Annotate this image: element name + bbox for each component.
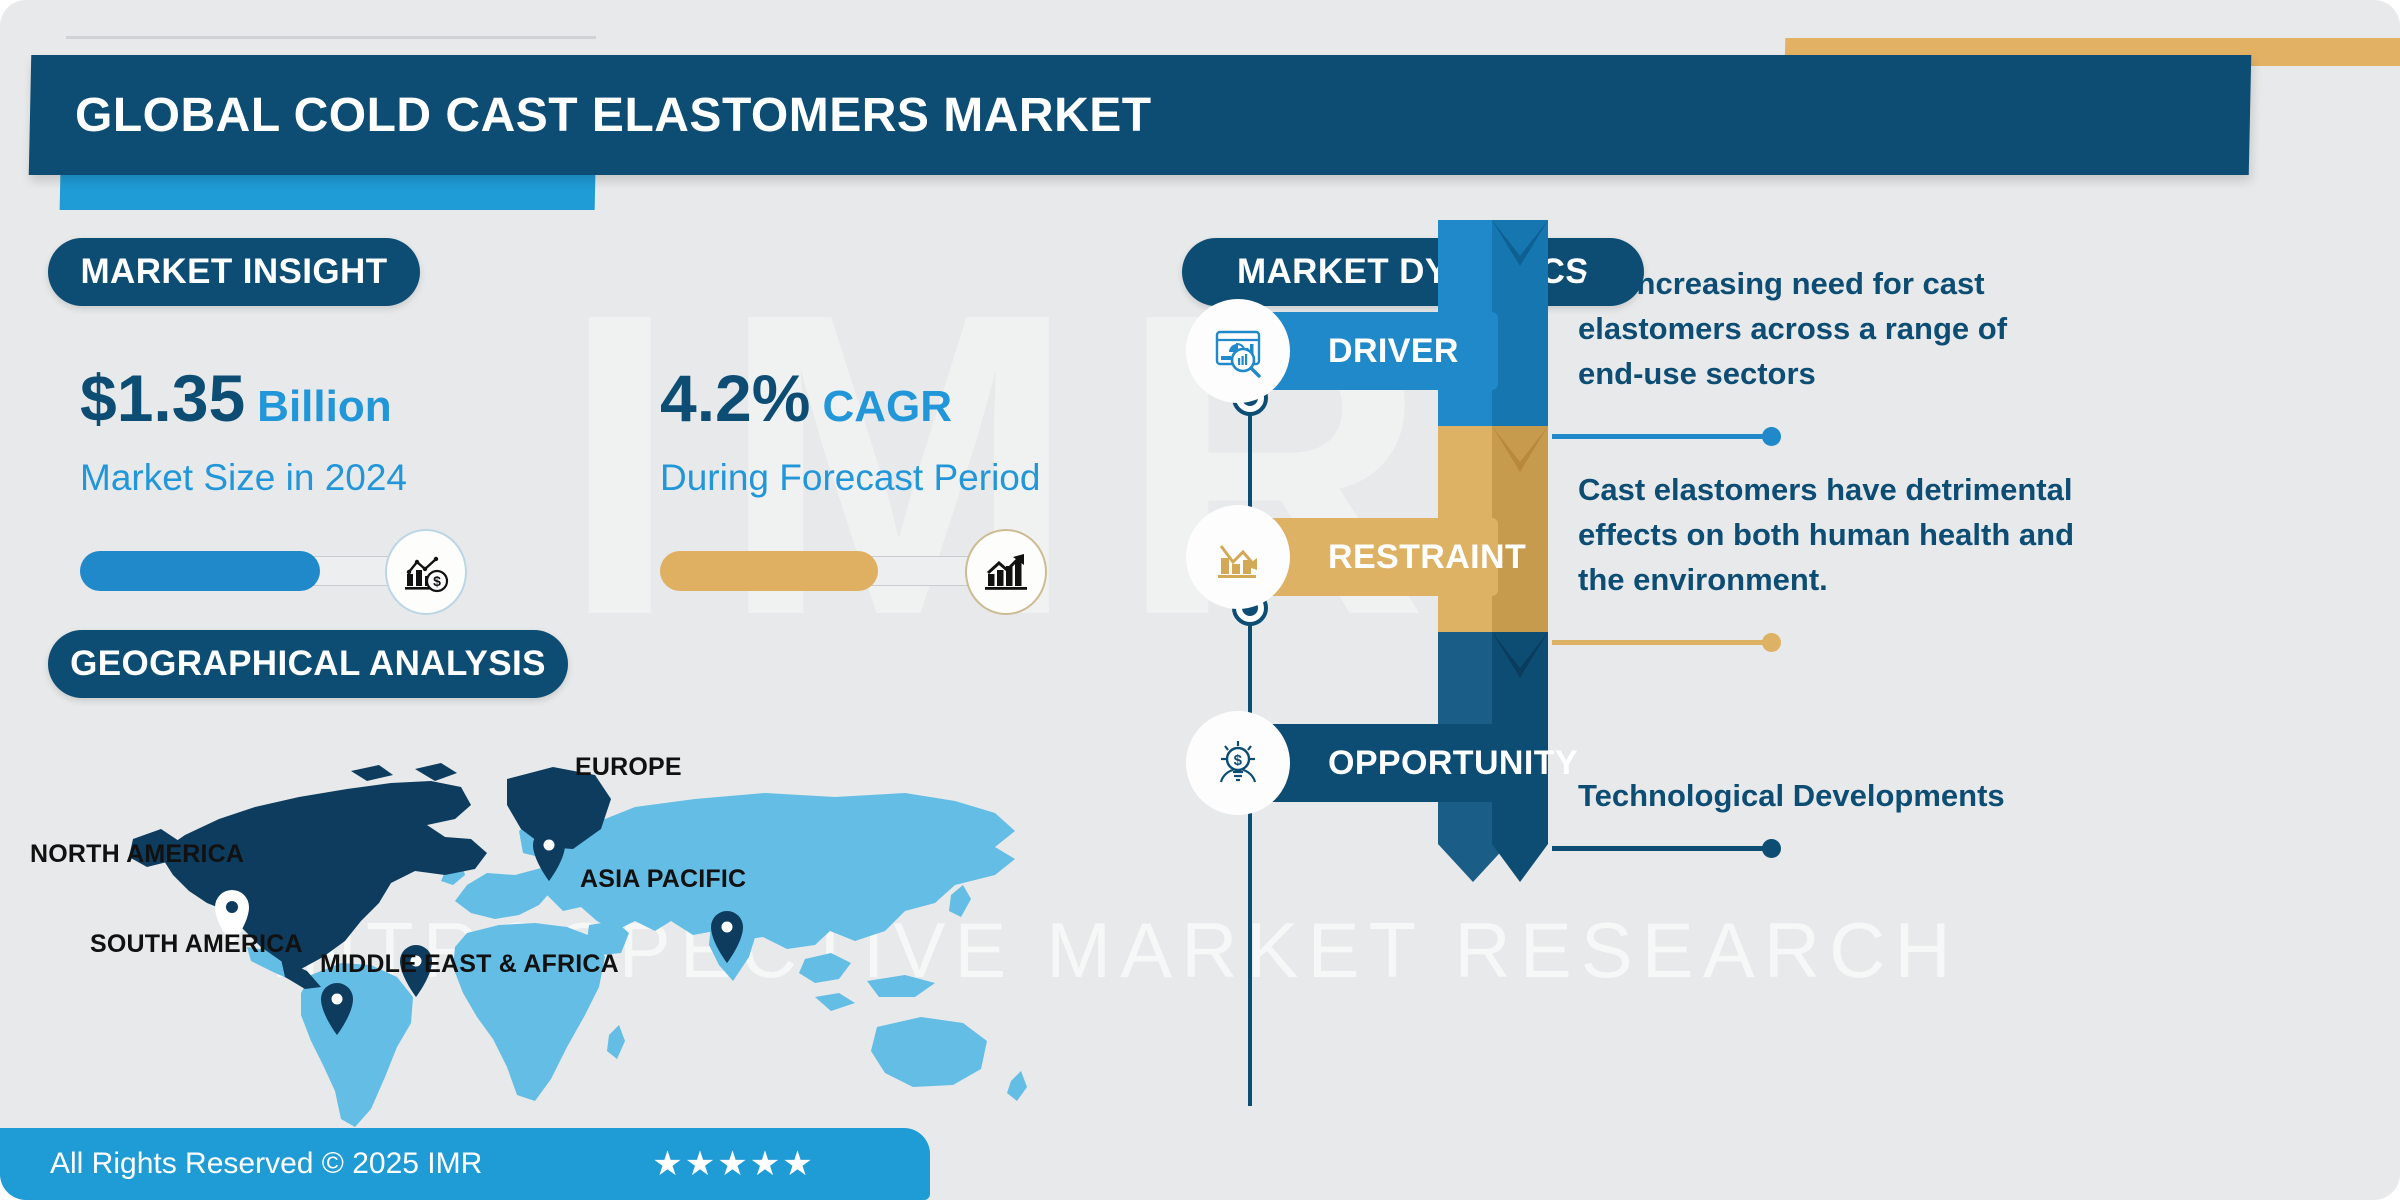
progress-fill bbox=[660, 551, 878, 591]
section-header-market-dynamics: MARKET DYNAMICS bbox=[1182, 238, 1644, 306]
dynamics-text-restraint: Cast elastomers have detrimental effects… bbox=[1578, 468, 2078, 603]
dashboard-magnifier-icon bbox=[1186, 299, 1290, 403]
map-label-europe: EUROPE bbox=[575, 753, 682, 782]
kpi-value-row: 4.2%CAGR bbox=[660, 365, 1220, 431]
header-accent-line bbox=[66, 36, 596, 39]
world-map: NORTH AMERICA EUROPE ASIA PACIFIC SOUTH … bbox=[115, 735, 1155, 1135]
svg-text:$: $ bbox=[1234, 752, 1243, 769]
kpi-value-row: $1.35Billion bbox=[80, 365, 640, 431]
progress-fill bbox=[80, 551, 320, 591]
leader-dot-restraint bbox=[1762, 633, 1781, 652]
dynamics-tag-label: OPPORTUNITY bbox=[1328, 744, 1578, 783]
section-header-market-insight: MARKET INSIGHT bbox=[48, 238, 420, 306]
leader-dot-opportunity bbox=[1762, 839, 1781, 858]
leader-line-driver bbox=[1552, 434, 1772, 439]
map-label-north-america: NORTH AMERICA bbox=[30, 840, 244, 869]
footer-bar: All Rights Reserved © 2025 IMR ★★★★★ bbox=[0, 1128, 930, 1200]
header-cyan-bar bbox=[60, 175, 596, 210]
kpi-market-size: $1.35Billion Market Size in 2024 $ bbox=[80, 365, 640, 615]
kpi-label: Market Size in 2024 bbox=[80, 457, 640, 499]
map-label-asia-pacific: ASIA PACIFIC bbox=[580, 865, 746, 894]
market-dynamics-timeline: DRIVER bbox=[1180, 300, 2400, 1200]
bar-chart-dollar-icon: $ bbox=[385, 529, 467, 615]
kpi-progress-row: $ bbox=[80, 529, 640, 615]
kpi-unit: CAGR bbox=[822, 382, 952, 431]
section-header-geographical-analysis: GEOGRAPHICAL ANALYSIS bbox=[48, 630, 568, 698]
dynamics-tag-driver: DRIVER bbox=[1208, 312, 1498, 390]
kpi-value: 4.2% bbox=[660, 361, 810, 435]
dynamics-text-driver: An increasing need for cast elastomers a… bbox=[1578, 262, 2078, 397]
svg-text:$: $ bbox=[433, 573, 441, 589]
rating-stars-icon: ★★★★★ bbox=[652, 1144, 814, 1184]
kpi-unit: Billion bbox=[257, 382, 391, 431]
kpi-progress-row bbox=[660, 529, 1220, 615]
page-title: GLOBAL COLD CAST ELASTOMERS MARKET bbox=[75, 58, 2075, 173]
dynamics-tag-restraint: RESTRAINT bbox=[1208, 518, 1498, 596]
timeline-spine bbox=[1248, 306, 1252, 1106]
dynamics-tag-label: RESTRAINT bbox=[1328, 538, 1526, 577]
leader-line-opportunity bbox=[1552, 846, 1772, 851]
footer-copyright: All Rights Reserved © 2025 IMR bbox=[50, 1147, 482, 1181]
infographic-canvas: IMR INTROSPECTIVE MARKET RESEARCH GLOBAL… bbox=[0, 0, 2400, 1200]
kpi-label: During Forecast Period bbox=[660, 457, 1220, 499]
dynamics-tag-label: DRIVER bbox=[1328, 332, 1459, 371]
dynamics-text-opportunity: Technological Developments bbox=[1578, 774, 2078, 819]
map-label-middle-east-africa: MIDDLE EAST & AFRICA bbox=[320, 950, 619, 979]
declining-bar-chart-icon bbox=[1186, 505, 1290, 609]
lightbulb-dollar-icon: $ bbox=[1186, 711, 1290, 815]
dynamics-tag-opportunity: OPPORTUNITY $ bbox=[1208, 724, 1498, 802]
growth-arrow-chart-icon bbox=[965, 529, 1047, 615]
kpi-cagr: 4.2%CAGR During Forecast Period bbox=[660, 365, 1220, 615]
kpi-value: $1.35 bbox=[80, 361, 245, 435]
leader-line-restraint bbox=[1552, 640, 1772, 645]
map-label-south-america: SOUTH AMERICA bbox=[90, 930, 303, 959]
leader-dot-driver bbox=[1762, 427, 1781, 446]
